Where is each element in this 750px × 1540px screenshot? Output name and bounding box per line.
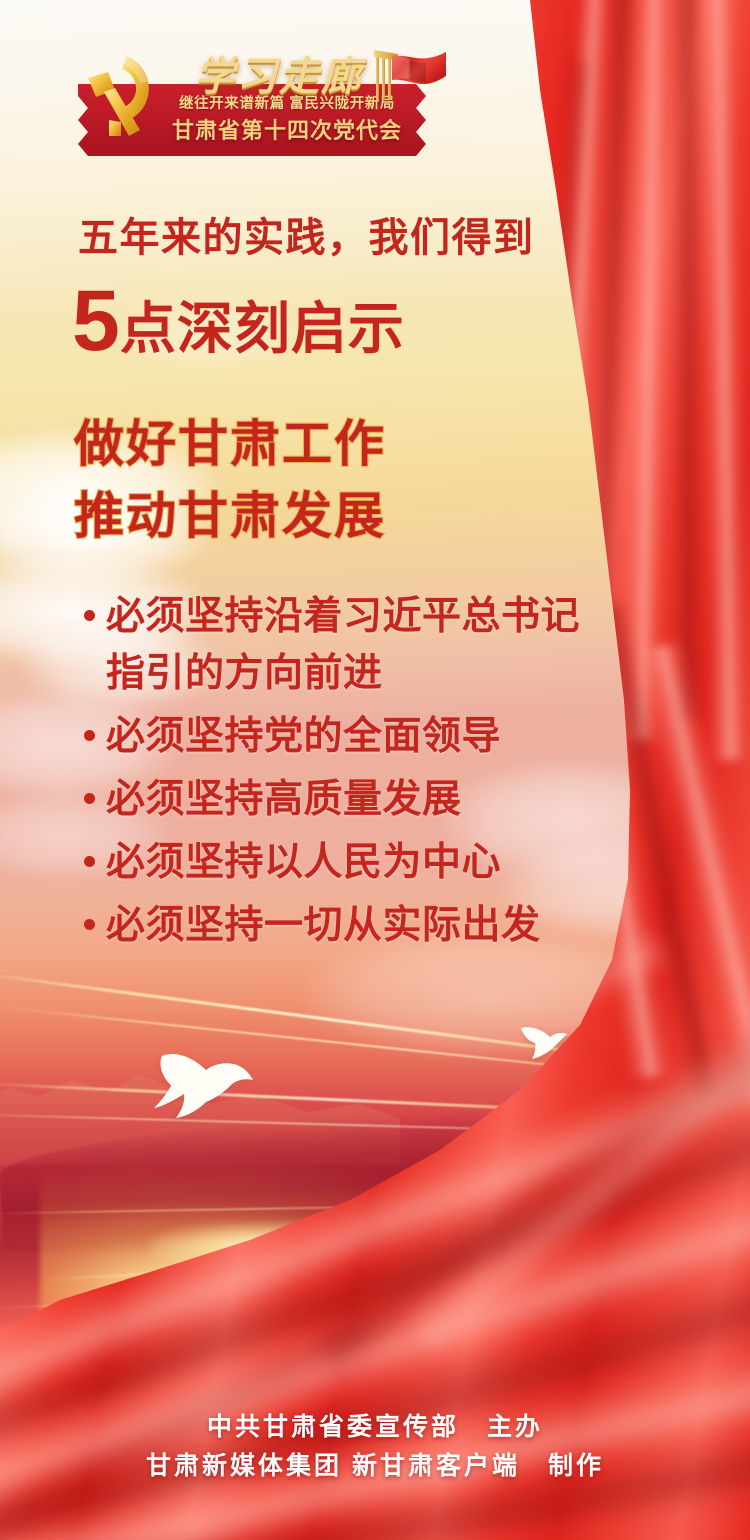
- subtitle-line-2: 推动甘肃发展: [74, 476, 386, 548]
- footer-line-producer: 甘肃新媒体集团 新甘肃客户端 制作: [0, 1446, 750, 1486]
- bullet-dot-icon: [84, 730, 95, 741]
- list-item-main: 必须坚持沿着习近平总书记: [106, 595, 580, 638]
- poster-root: 学习走廊 继往开来谱新篇 富民兴陇开新局 甘肃省第十四次党代会: [0, 0, 750, 1540]
- footer-line-organizer: 中共甘肃省委宣传部 主办: [0, 1408, 750, 1446]
- page-title-line: 五年来的实践，我们得到: [78, 212, 535, 264]
- subtitle-line-1: 做好甘肃工作: [74, 404, 386, 476]
- dove-icon: [150, 1040, 255, 1126]
- key-points-list: 必须坚持沿着习近平总书记 指引的方向前进 必须坚持党的全面领导 必须坚持高质量发…: [80, 588, 680, 960]
- party-emblem-icon: [82, 50, 160, 142]
- header-banner: 学习走廊 继往开来谱新篇 富民兴陇开新局 甘肃省第十四次党代会: [78, 48, 426, 158]
- list-item-main: 必须坚持党的全面领导: [106, 715, 501, 758]
- list-item-text: 必须坚持高质量发展: [106, 771, 680, 828]
- banner-event-name: 甘肃省第十四次党代会: [154, 116, 420, 146]
- list-item-continuation: 指引的方向前进: [106, 645, 680, 702]
- headline-number: 5: [72, 280, 118, 362]
- bullet-dot-icon: [84, 610, 95, 621]
- bullet-dot-icon: [84, 919, 95, 930]
- footer-credits: 中共甘肃省委宣传部 主办 甘肃新媒体集团 新甘肃客户端 制作: [0, 1408, 750, 1486]
- headline-group: 5 点深刻启示: [72, 280, 405, 362]
- list-item-main: 必须坚持一切从实际出发: [106, 904, 541, 947]
- list-item-main: 必须坚持高质量发展: [106, 778, 462, 821]
- headline-text: 点深刻启示: [120, 296, 405, 362]
- list-item-text: 必须坚持党的全面领导: [106, 708, 680, 765]
- list-item-text: 必须坚持一切从实际出发: [106, 897, 680, 954]
- list-item: 必须坚持党的全面领导: [80, 708, 680, 765]
- list-item-text: 必须坚持沿着习近平总书记 指引的方向前进: [106, 588, 680, 702]
- list-item-text: 必须坚持以人民为中心: [106, 834, 680, 891]
- list-item: 必须坚持以人民为中心: [80, 834, 680, 891]
- bullet-dot-icon: [84, 856, 95, 867]
- list-item: 必须坚持一切从实际出发: [80, 897, 680, 954]
- bullet-dot-icon: [84, 793, 95, 804]
- list-item-main: 必须坚持以人民为中心: [106, 841, 501, 884]
- list-item: 必须坚持高质量发展: [80, 771, 680, 828]
- list-item: 必须坚持沿着习近平总书记 指引的方向前进: [80, 588, 680, 702]
- red-flag-icon: [368, 48, 446, 104]
